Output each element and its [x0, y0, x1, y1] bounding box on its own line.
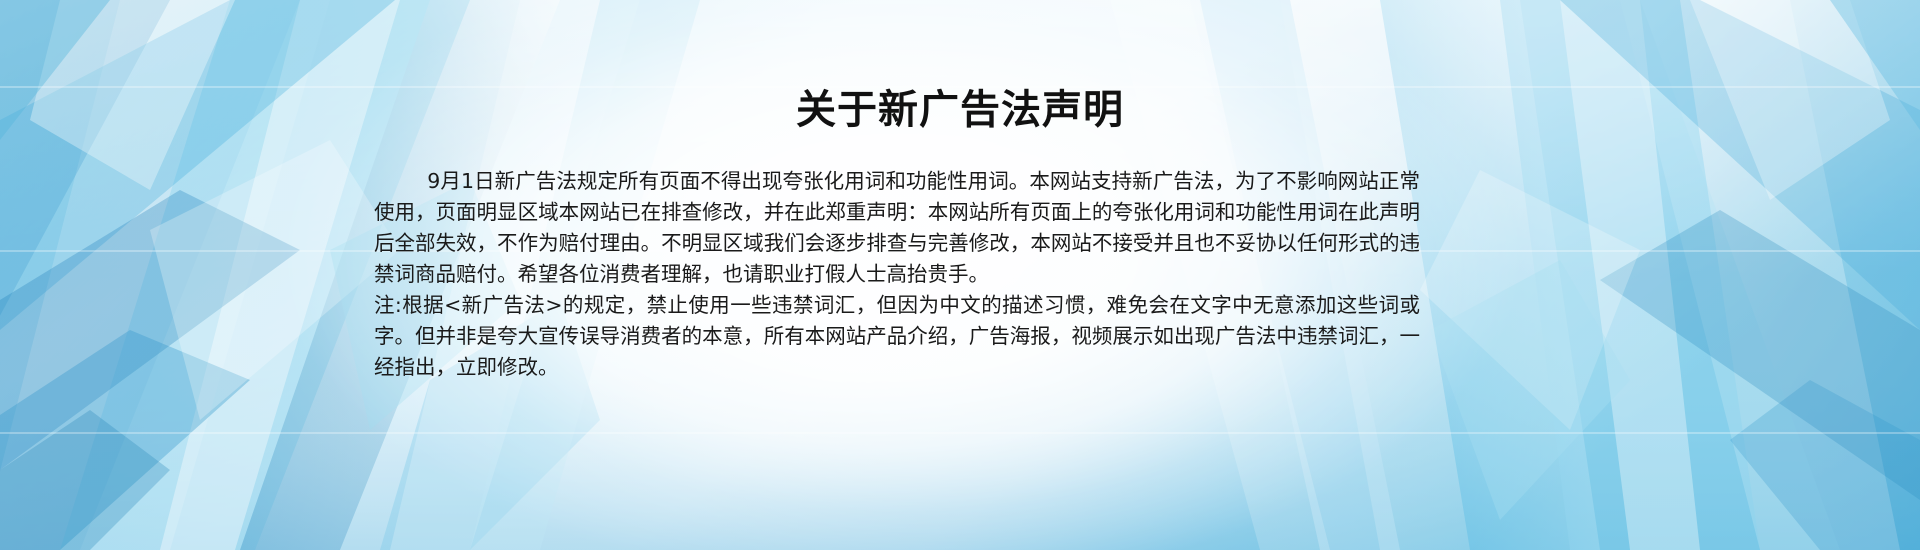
statement-paragraph-2: 注:根据<新广告法>的规定，禁止使用一些违禁词汇，但因为中文的描述习惯，难免会在…	[374, 290, 1420, 383]
statement-content: 关于新广告法声明 9月1日新广告法规定所有页面不得出现夸张化用词和功能性用词。本…	[0, 0, 1920, 550]
banner-root: 关于新广告法声明 9月1日新广告法规定所有页面不得出现夸张化用词和功能性用词。本…	[0, 0, 1920, 550]
statement-paragraph-1: 9月1日新广告法规定所有页面不得出现夸张化用词和功能性用词。本网站支持新广告法，…	[374, 166, 1420, 290]
statement-body: 9月1日新广告法规定所有页面不得出现夸张化用词和功能性用词。本网站支持新广告法，…	[374, 166, 1420, 383]
page-title: 关于新广告法声明	[0, 84, 1920, 136]
